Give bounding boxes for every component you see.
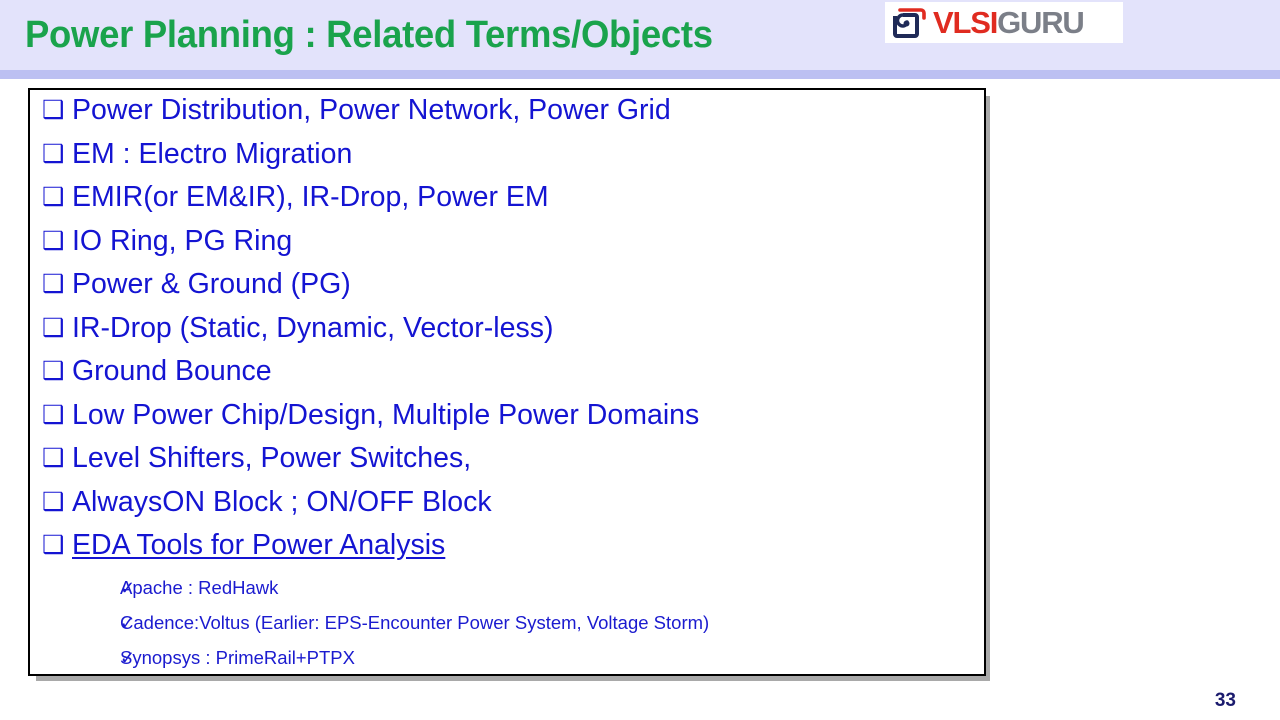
bullet-list: ❑ Power Distribution, Power Network, Pow… — [38, 96, 978, 676]
sub-list-item-label: Cadence:Voltus (Earlier: EPS-Encounter P… — [120, 614, 709, 633]
list-item: ❑ Low Power Chip/Design, Multiple Power … — [38, 401, 978, 445]
list-item: ❑ EMIR(or EM&IR), IR-Drop, Power EM — [38, 183, 978, 227]
list-item: ❑ Power & Ground (PG) — [38, 270, 978, 314]
sub-list-item-label: Apache : RedHawk — [120, 579, 278, 598]
square-bullet-icon: ❑ — [38, 316, 72, 341]
logo-word-vlsi: VLSI — [933, 5, 997, 40]
list-item: ❑ Level Shifters, Power Switches, — [38, 444, 978, 488]
content-box: ❑ Power Distribution, Power Network, Pow… — [28, 88, 986, 676]
list-item-label: IR-Drop (Static, Dynamic, Vector-less) — [72, 314, 553, 343]
square-bullet-icon: ❑ — [38, 272, 72, 297]
sub-list-item: ✓ Synopsys : PrimeRail+PTPX — [38, 649, 978, 677]
list-item-label: EMIR(or EM&IR), IR-Drop, Power EM — [72, 183, 549, 212]
list-item: ❑ EM : Electro Migration — [38, 140, 978, 184]
sub-list-item: ✓ Apache : RedHawk — [38, 579, 978, 614]
sub-list-item: ✓ Cadence:Voltus (Earlier: EPS-Encounter… — [38, 614, 978, 649]
list-item-label: Low Power Chip/Design, Multiple Power Do… — [72, 401, 699, 430]
square-bullet-icon: ❑ — [38, 533, 72, 558]
sub-list-item-label: Synopsys : PrimeRail+PTPX — [120, 649, 355, 668]
list-item-eda-tools: ❑ EDA Tools for Power Analysis — [38, 531, 978, 575]
square-bullet-icon: ❑ — [38, 359, 72, 384]
checkmark-icon: ✓ — [38, 614, 120, 632]
list-item-label: Power Distribution, Power Network, Power… — [72, 96, 671, 125]
list-item-label: Ground Bounce — [72, 357, 272, 386]
logo-word-guru: GURU — [997, 5, 1083, 40]
square-bullet-icon: ❑ — [38, 490, 72, 515]
header-divider — [0, 70, 1280, 79]
list-item: ❑ IO Ring, PG Ring — [38, 227, 978, 271]
square-bullet-icon: ❑ — [38, 446, 72, 471]
page-title: Power Planning : Related Terms/Objects — [25, 14, 713, 57]
list-item: ❑ Ground Bounce — [38, 357, 978, 401]
vlsiguru-logo: VLSIGURU — [885, 2, 1123, 43]
list-item-label: EM : Electro Migration — [72, 140, 352, 169]
list-item-label: EDA Tools for Power Analysis — [72, 531, 445, 560]
square-bullet-icon: ❑ — [38, 98, 72, 123]
list-item: ❑ IR-Drop (Static, Dynamic, Vector-less) — [38, 314, 978, 358]
logo-wordmark: VLSIGURU — [933, 7, 1084, 38]
checkmark-icon: ✓ — [38, 579, 120, 597]
checkmark-icon: ✓ — [38, 649, 120, 667]
square-bullet-icon: ❑ — [38, 142, 72, 167]
square-bullet-icon: ❑ — [38, 229, 72, 254]
sub-bullet-list: ✓ Apache : RedHawk ✓ Cadence:Voltus (Ear… — [38, 579, 978, 677]
list-item: ❑ AlwaysON Block ; ON/OFF Block — [38, 488, 978, 532]
list-item-label: Level Shifters, Power Switches, — [72, 444, 471, 473]
page-number: 33 — [1215, 690, 1236, 712]
square-bullet-icon: ❑ — [38, 403, 72, 428]
vlsiguru-spiral-icon — [890, 4, 930, 40]
list-item-label: IO Ring, PG Ring — [72, 227, 292, 256]
square-bullet-icon: ❑ — [38, 185, 72, 210]
list-item: ❑ Power Distribution, Power Network, Pow… — [38, 96, 978, 140]
list-item-label: Power & Ground (PG) — [72, 270, 351, 299]
list-item-label: AlwaysON Block ; ON/OFF Block — [72, 488, 492, 517]
